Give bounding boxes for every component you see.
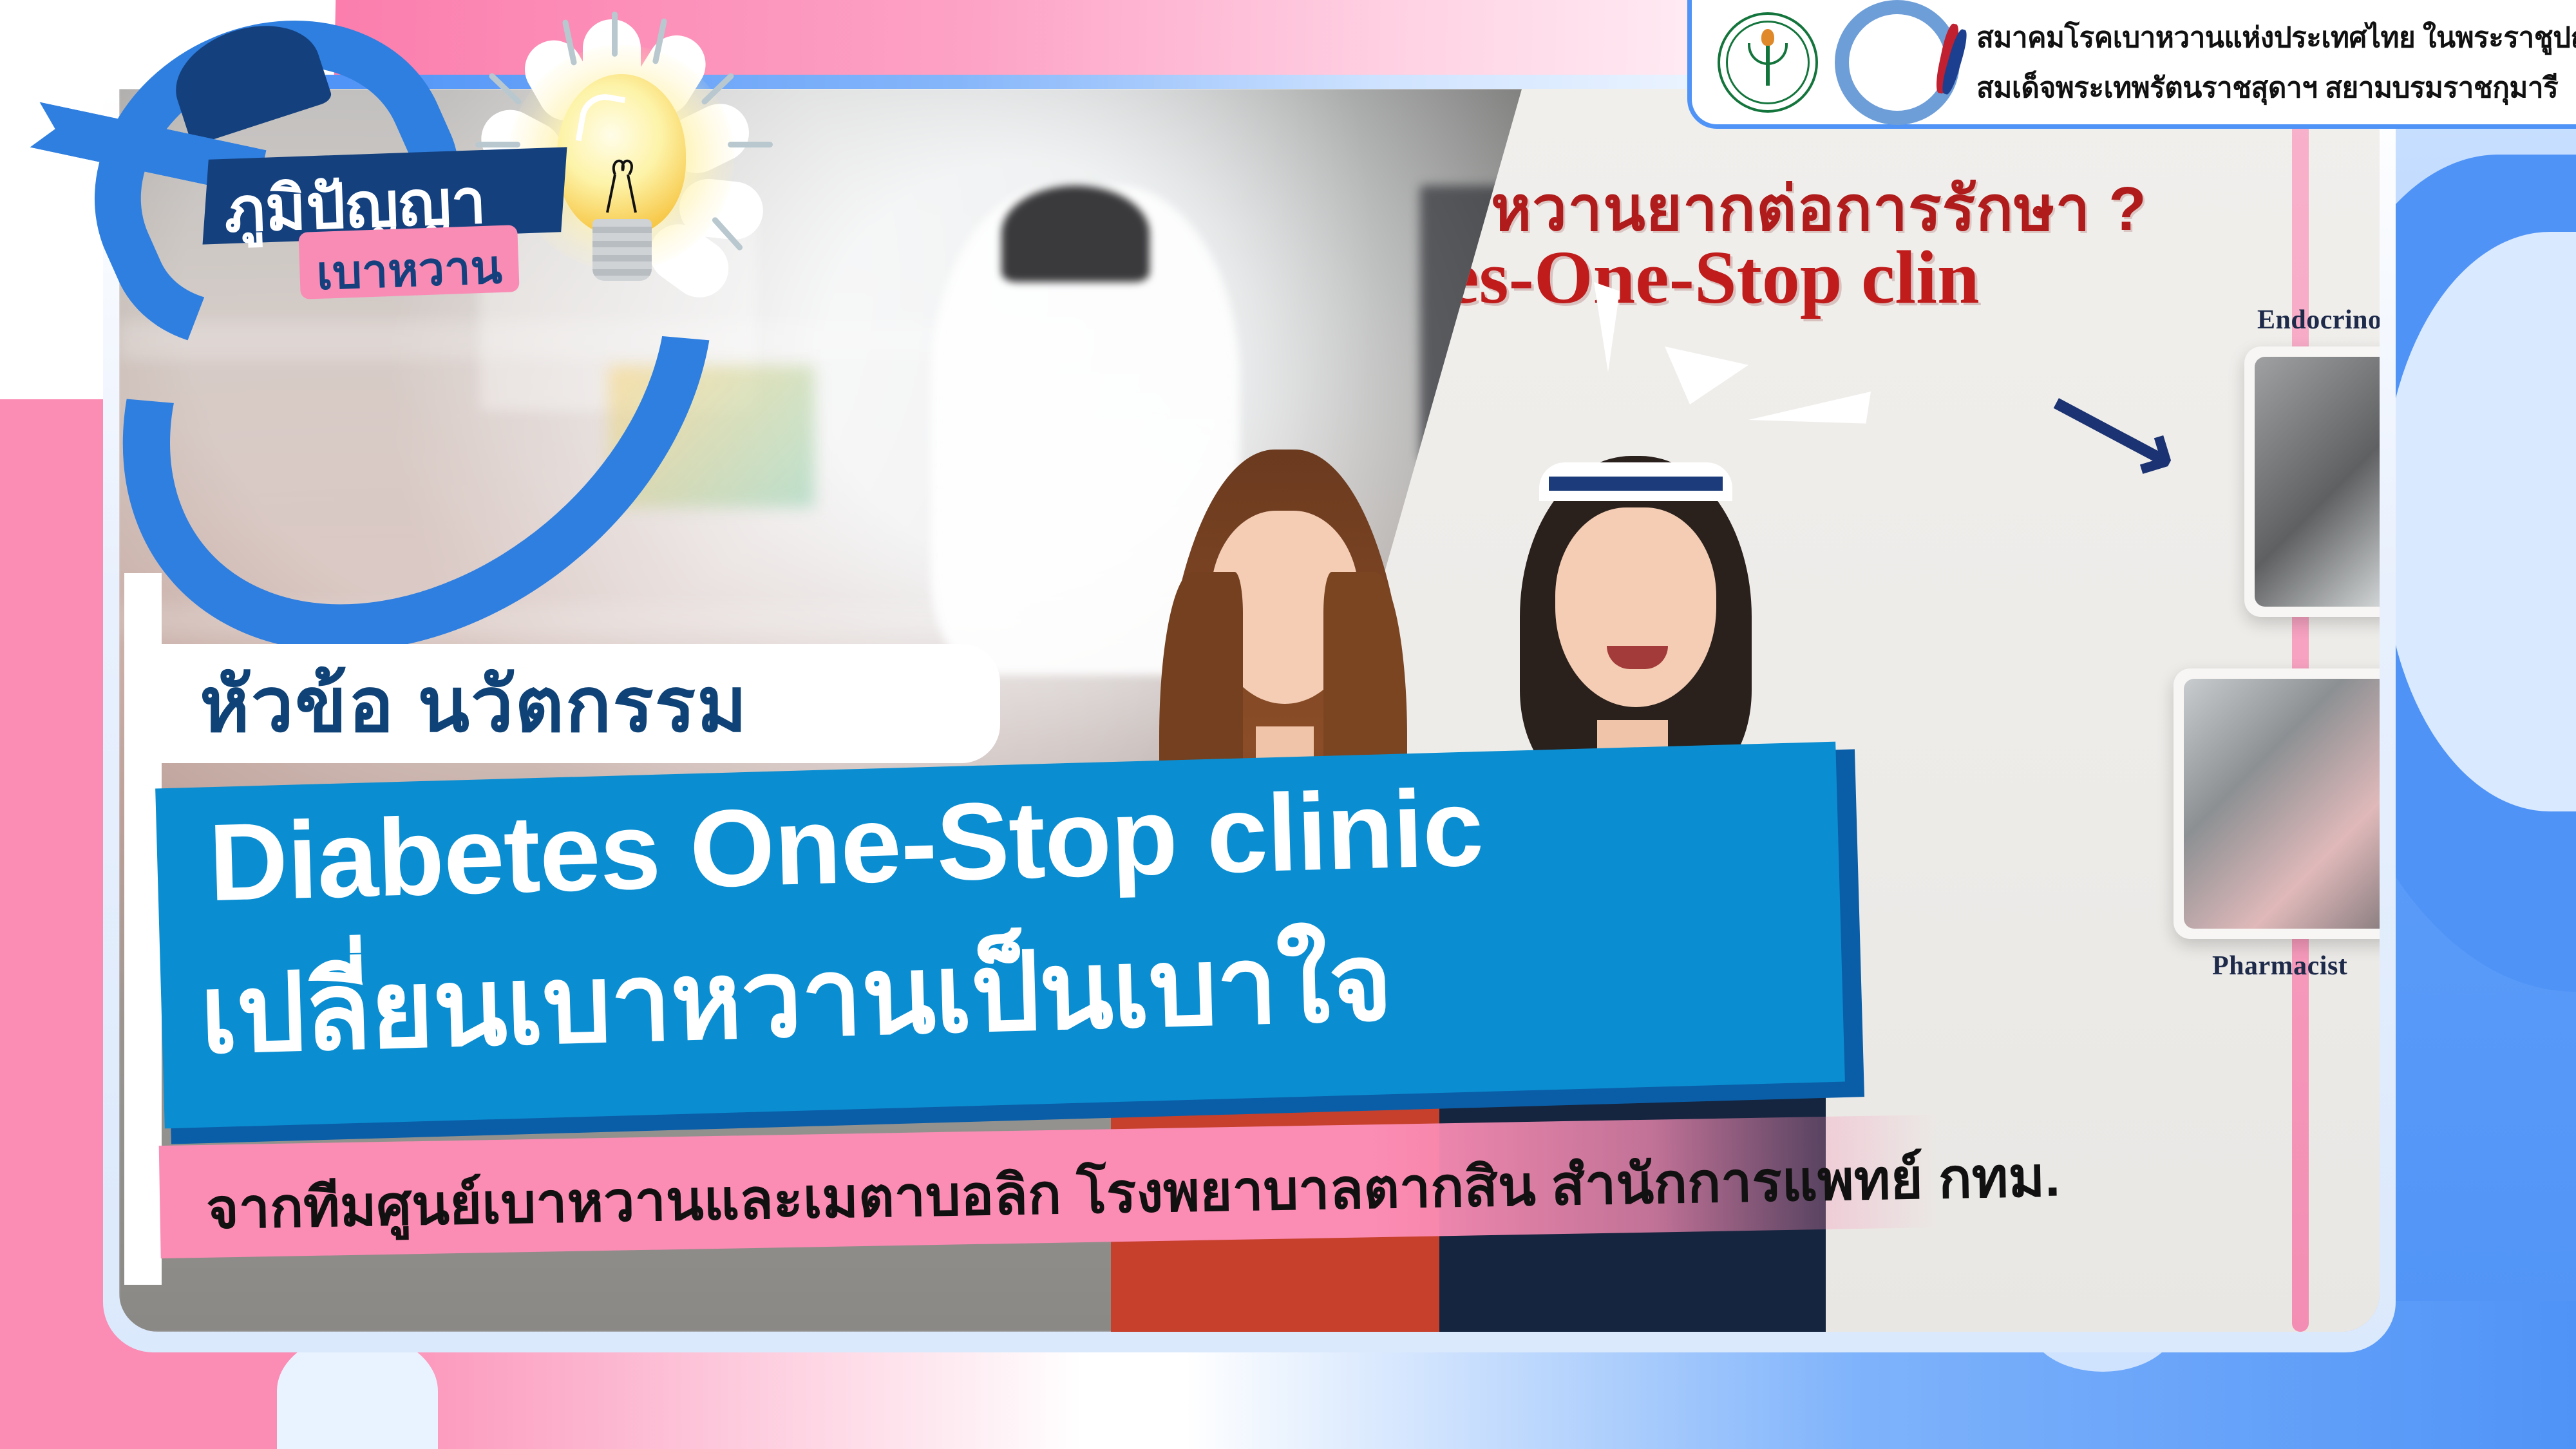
poster-node-label-pharmacist: Pharmacist [2212,951,2347,981]
photo-background-nurse-cap [1001,185,1150,282]
badge-word-secondary: เบาหวาน [298,225,519,299]
poster-node-endocrinologist [2244,346,2380,617]
pharmacist-counselling-photo-icon [2184,679,2380,929]
diabetes-ring-logo-icon [1835,0,1960,125]
eyebrow-label: หัวข้อ นวัตกรรม [200,643,748,764]
poster-node-pharmacist [2173,668,2380,939]
title-line-2: เปลี่ยนเบาหวานเป็นเบาใจ [198,895,1394,1100]
poster-canvas: หวานยากต่อการรักษา ? tes-One-Stop clin E… [0,0,2576,1449]
badge-word-secondary-label: เบาหวาน [315,229,503,310]
association-logo-card: สมาคมโรคเบาหวานแห่งประเทศไทย ในพระราชูปถ… [1687,0,2576,129]
association-line-2: สมเด็จพระเทพรัตนราชสุดาฯ สยามบรมราชกุมาร… [1976,65,2576,110]
lightbulb-filament-icon [596,145,647,216]
program-brand-badge: ภูมิปัญญา เบาหวาน [13,6,805,419]
association-line-1: สมาคมโรคเบาหวานแห่งประเทศไทย ในพระราชูปถ… [1976,15,2576,60]
eyebrow-pill: หัวข้อ นวัตกรรม [160,644,1000,763]
medical-caduceus-seal-icon [1718,12,1818,113]
poster-english-headline: tes-One-Stop clin [1420,234,2380,321]
poster-node-label-endocrinologist: Endocrinologist [2257,305,2380,336]
doctor-consult-photo-icon [2255,357,2380,607]
white-accent-bar [124,573,162,1285]
curved-arrow-icon: ⟶ [2030,355,2197,505]
title-banner: Diabetes One-Stop clinic เปลี่ยนเบาหวานเ… [155,742,1845,1129]
lightbulb-base [592,219,652,281]
association-name: สมาคมโรคเบาหวานแห่งประเทศไทย ในพระราชูปถ… [1976,15,2576,110]
